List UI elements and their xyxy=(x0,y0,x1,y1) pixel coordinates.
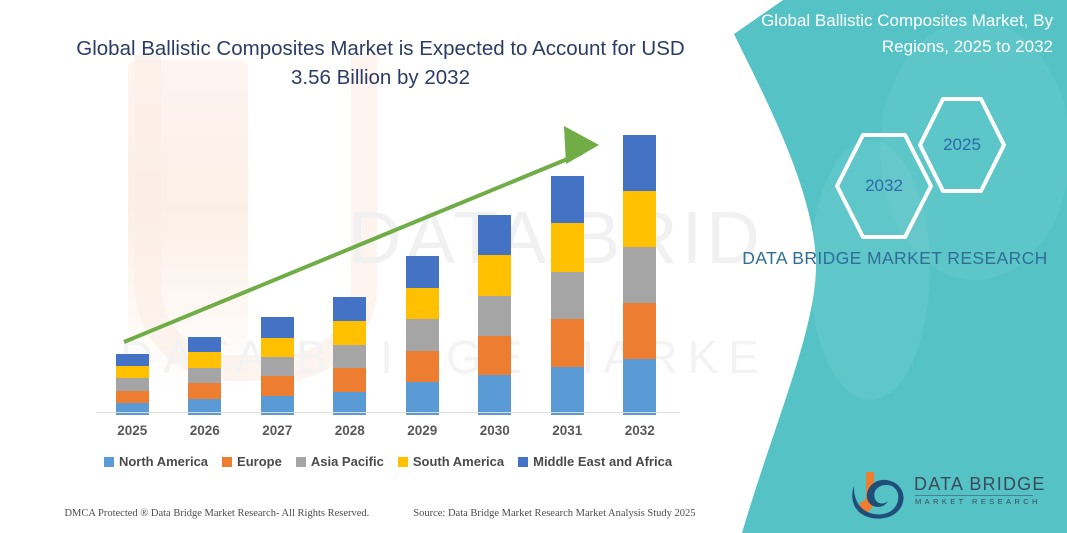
bar-segment[interactable] xyxy=(478,296,511,336)
data-bridge-logo: DATA BRIDGE MARKET RESEARCH xyxy=(848,470,1048,522)
bar-segment[interactable] xyxy=(478,215,511,256)
bar-segment[interactable] xyxy=(116,391,149,403)
logo-text-main: DATA BRIDGE xyxy=(914,474,1046,495)
bar-segment[interactable] xyxy=(116,403,149,415)
bar-segment[interactable] xyxy=(406,256,439,288)
bar-segment[interactable] xyxy=(333,297,366,321)
bar-column xyxy=(241,317,314,415)
hexagon-badge-2032: 2032 xyxy=(833,131,935,241)
bar-segment[interactable] xyxy=(406,382,439,415)
bar-segment[interactable] xyxy=(116,366,149,378)
legend-label: North America xyxy=(119,454,208,469)
side-panel: Global Ballistic Composites Market, By R… xyxy=(720,0,1067,533)
bar-segment[interactable] xyxy=(333,368,366,391)
bar-column xyxy=(386,256,459,415)
bar-segment[interactable] xyxy=(551,367,584,415)
bar-segment[interactable] xyxy=(623,303,656,359)
hexagon-badge-2032-label: 2032 xyxy=(865,176,903,196)
legend-swatch xyxy=(398,457,408,467)
x-axis-label: 2027 xyxy=(241,423,314,438)
page-title: Global Ballistic Composites Market is Ex… xyxy=(68,34,693,92)
legend-swatch xyxy=(222,457,232,467)
brand-name: DATA BRIDGE MARKET RESEARCH xyxy=(740,243,1050,273)
bar-segment[interactable] xyxy=(406,351,439,383)
bar-segment[interactable] xyxy=(333,345,366,368)
bar-segment[interactable] xyxy=(551,223,584,272)
bar-segment[interactable] xyxy=(333,321,366,344)
logo-divider xyxy=(915,495,1033,496)
stacked-bar[interactable] xyxy=(623,135,656,415)
stacked-bar[interactable] xyxy=(261,317,294,415)
legend-label: Middle East and Africa xyxy=(533,454,672,469)
legend-label: South America xyxy=(413,454,504,469)
bar-column xyxy=(459,215,532,415)
bar-segment[interactable] xyxy=(551,176,584,223)
bar-segment[interactable] xyxy=(478,375,511,415)
footer: DMCA Protected ® Data Bridge Market Rese… xyxy=(0,508,760,519)
bar-segment[interactable] xyxy=(188,383,221,398)
chart-panel: DATA BRIDGE DATA BRIDGE MARKET RESEARCH … xyxy=(0,0,760,533)
footer-copyright: DMCA Protected ® Data Bridge Market Rese… xyxy=(64,508,369,519)
bar-segment[interactable] xyxy=(406,319,439,351)
legend-item[interactable]: Europe xyxy=(222,454,282,469)
bar-segment[interactable] xyxy=(478,255,511,296)
legend-item[interactable]: Asia Pacific xyxy=(296,454,384,469)
hexagon-badge-2025-label: 2025 xyxy=(943,135,981,155)
bar-segment[interactable] xyxy=(623,359,656,415)
bar-segment[interactable] xyxy=(261,317,294,337)
legend-swatch xyxy=(296,457,306,467)
bar-segment[interactable] xyxy=(261,357,294,376)
bar-segment[interactable] xyxy=(188,368,221,383)
legend-item[interactable]: Middle East and Africa xyxy=(518,454,672,469)
bar-segment[interactable] xyxy=(261,376,294,395)
x-axis-label: 2029 xyxy=(386,423,459,438)
bar-column xyxy=(531,176,604,415)
x-axis-label: 2031 xyxy=(531,423,604,438)
bar-column xyxy=(169,337,242,415)
legend-swatch xyxy=(518,457,528,467)
logo-text-sub: MARKET RESEARCH xyxy=(915,497,1041,506)
bar-segment[interactable] xyxy=(116,378,149,390)
legend-label: Asia Pacific xyxy=(311,454,384,469)
legend-item[interactable]: North America xyxy=(104,454,208,469)
bar-segment[interactable] xyxy=(623,191,656,247)
bar-column xyxy=(96,354,169,415)
x-axis-label: 2025 xyxy=(96,423,169,438)
chart-x-axis: 20252026202720282029203020312032 xyxy=(96,419,676,443)
stacked-bar[interactable] xyxy=(478,215,511,415)
legend-label: Europe xyxy=(237,454,282,469)
bar-segment[interactable] xyxy=(188,337,221,352)
stacked-bar[interactable] xyxy=(188,337,221,415)
legend-item[interactable]: South America xyxy=(398,454,504,469)
stacked-bar[interactable] xyxy=(333,297,366,415)
bar-segment[interactable] xyxy=(478,336,511,376)
x-axis-label: 2026 xyxy=(169,423,242,438)
bar-segment[interactable] xyxy=(188,352,221,368)
footer-source: Source: Data Bridge Market Research Mark… xyxy=(413,508,695,519)
panel-title: Global Ballistic Composites Market, By R… xyxy=(748,8,1053,60)
chart-baseline xyxy=(96,412,680,413)
bar-column xyxy=(314,297,387,415)
bar-segment[interactable] xyxy=(623,135,656,191)
x-axis-label: 2032 xyxy=(604,423,677,438)
bar-segment[interactable] xyxy=(623,247,656,303)
bar-column xyxy=(604,135,677,415)
stacked-bar[interactable] xyxy=(406,256,439,415)
chart-legend: North AmericaEuropeAsia PacificSouth Ame… xyxy=(96,454,680,469)
stacked-bar-chart xyxy=(96,120,676,415)
stacked-bar[interactable] xyxy=(116,354,149,415)
x-axis-label: 2030 xyxy=(459,423,532,438)
bar-segment[interactable] xyxy=(551,272,584,320)
logo-mark-icon xyxy=(848,470,910,520)
bar-segment[interactable] xyxy=(261,338,294,357)
bar-segment[interactable] xyxy=(406,288,439,320)
bar-segment[interactable] xyxy=(116,354,149,366)
x-axis-label: 2028 xyxy=(314,423,387,438)
legend-swatch xyxy=(104,457,114,467)
stacked-bar[interactable] xyxy=(551,176,584,415)
bar-segment[interactable] xyxy=(551,319,584,367)
